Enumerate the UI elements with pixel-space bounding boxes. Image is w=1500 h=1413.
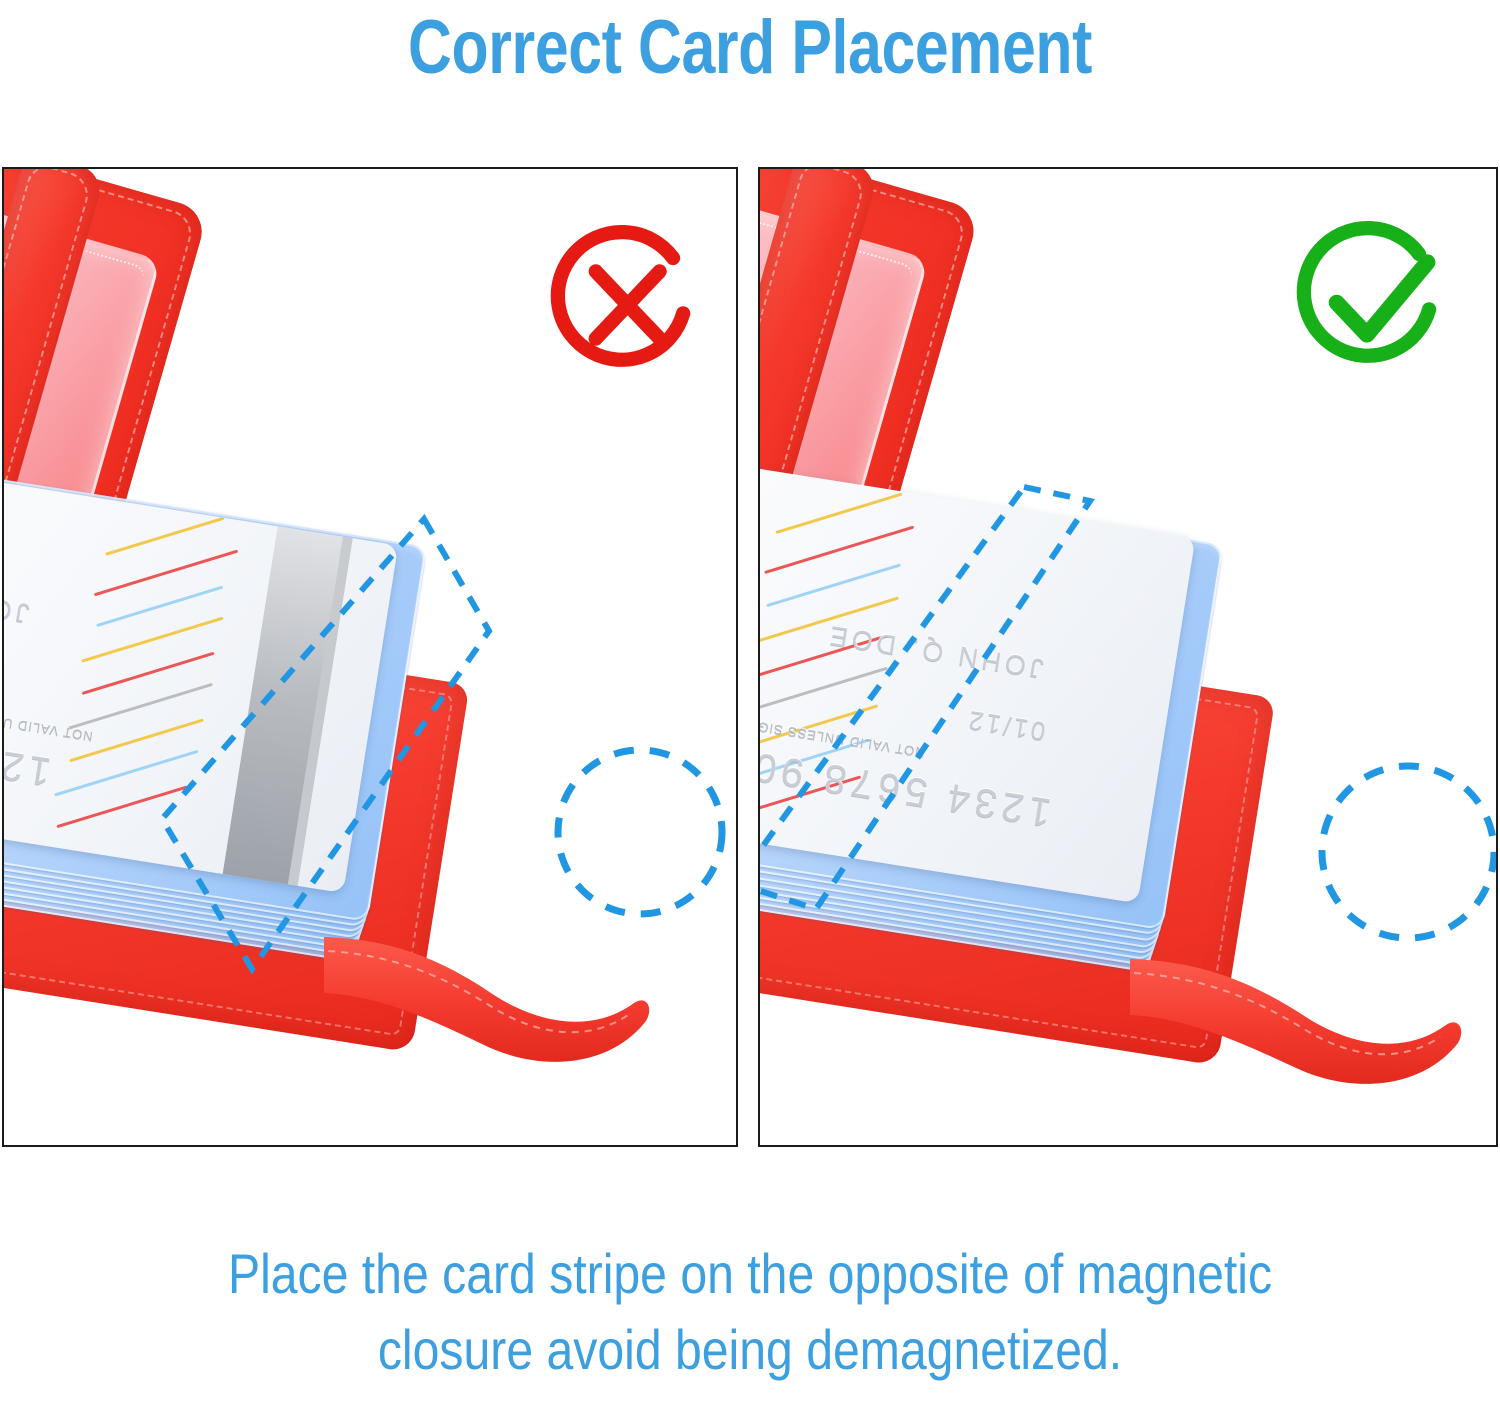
caption-line-2: closure avoid being demagnetized. bbox=[126, 1312, 1375, 1388]
panel-correct-placement: 1234 5678 9012 3456 01/12 JOHN Q. DOE NO… bbox=[758, 167, 1498, 1147]
credit-card: 1234 5678 9012 3456 01/12 JOHN Q. DOE NO… bbox=[758, 449, 1195, 904]
instruction-caption: Place the card stripe on the opposite of… bbox=[105, 1236, 1395, 1388]
circle-check-icon bbox=[1288, 217, 1456, 385]
card-expiry: 01/12 bbox=[964, 703, 1048, 746]
caption-line-1: Place the card stripe on the opposite of… bbox=[126, 1236, 1375, 1312]
annotation-closure-highlight bbox=[1315, 759, 1498, 945]
magnetic-closure-tab bbox=[1140, 919, 1480, 1119]
card-holder-name: JOHN Q. DOE bbox=[2, 563, 32, 628]
circle-x-icon bbox=[542, 221, 710, 389]
panel-incorrect-placement: 1234 5678 9012 3456 01/12 JOHN Q. DOE NO… bbox=[2, 167, 738, 1147]
page-title: Correct Card Placement bbox=[150, 2, 1350, 94]
annotation-closure-highlight bbox=[552, 744, 728, 920]
magnetic-closure-tab bbox=[334, 899, 664, 1099]
instruction-graphic: Correct Card Placement bbox=[0, 0, 1500, 1413]
credit-card: 1234 5678 9012 3456 01/12 JOHN Q. DOE NO… bbox=[2, 461, 398, 893]
